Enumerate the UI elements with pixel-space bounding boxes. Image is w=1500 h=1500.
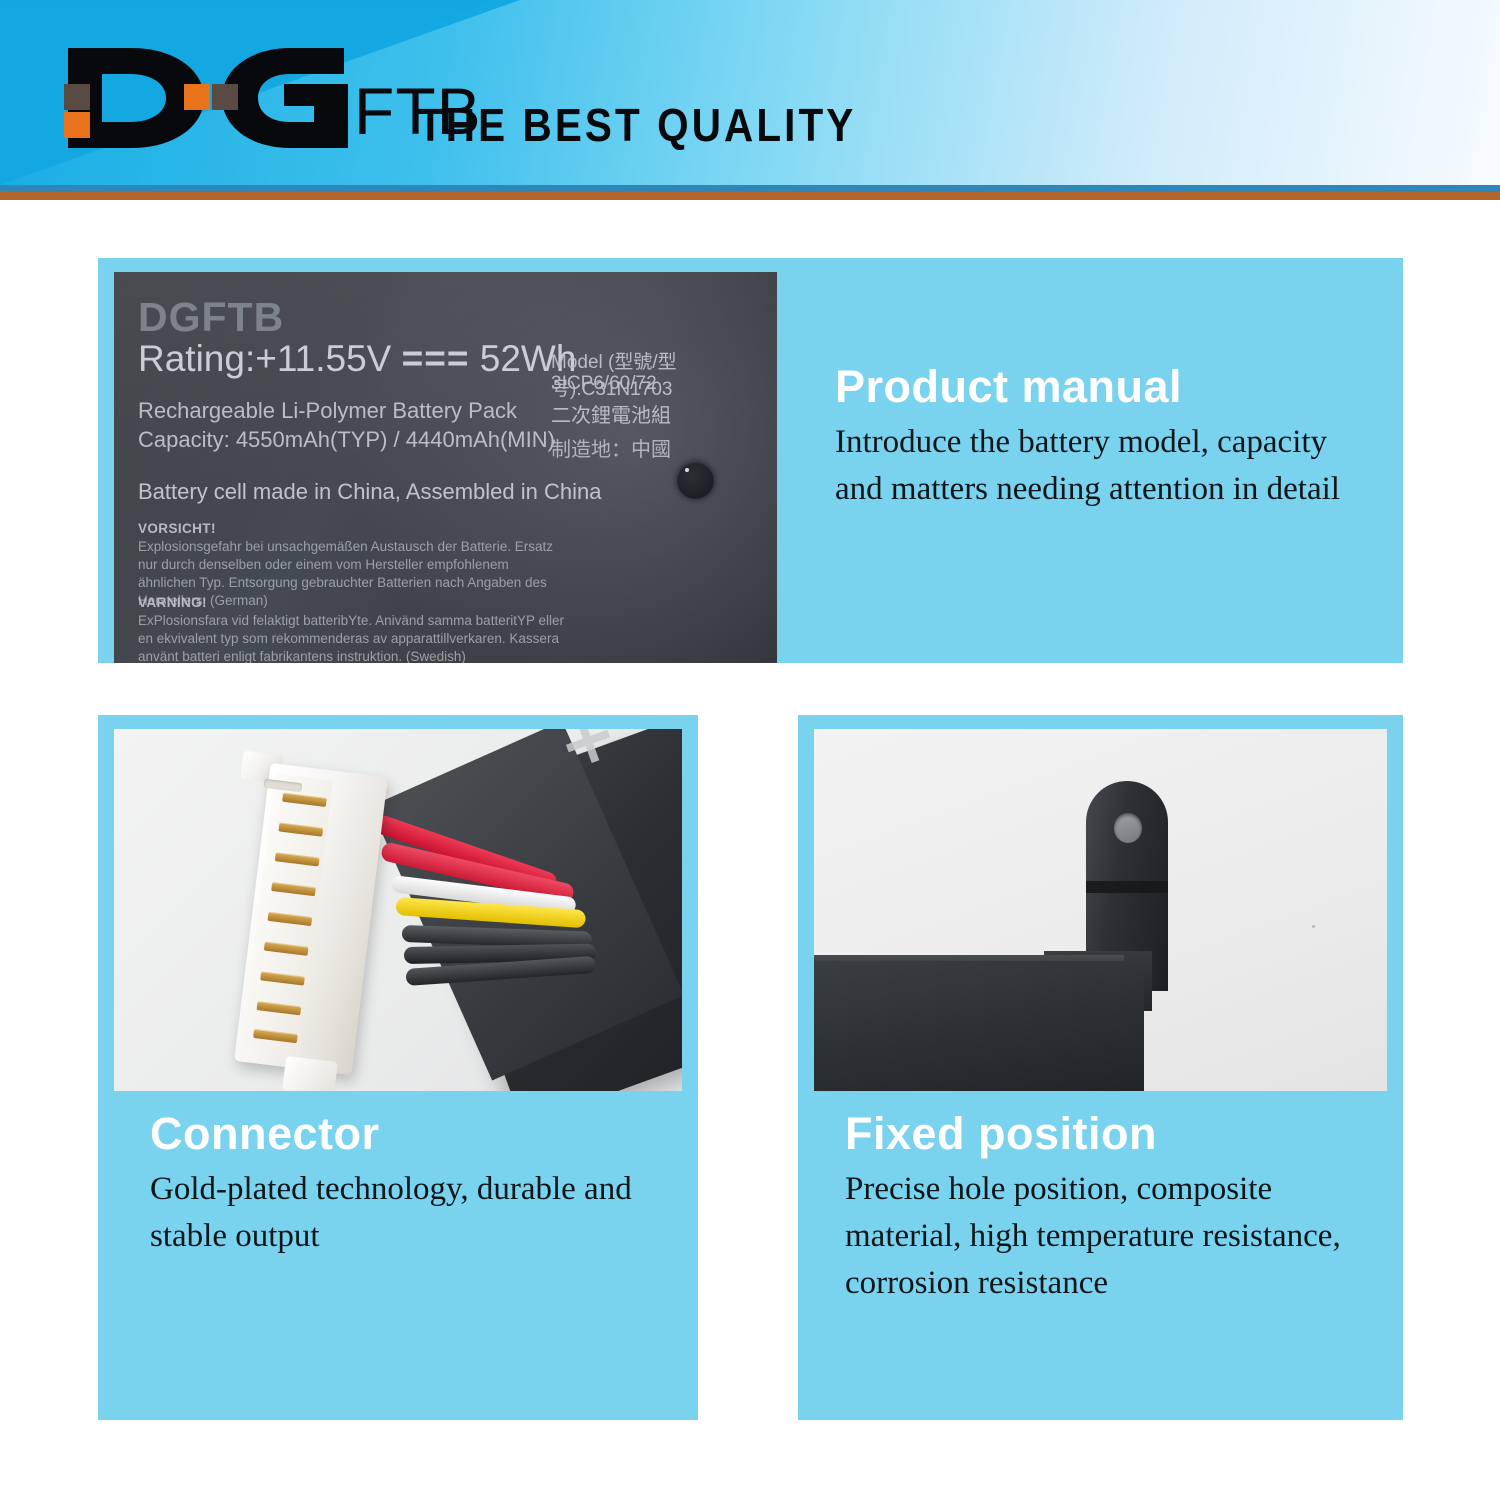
warning-heading-german: VORSICHT! [138,521,216,536]
gold-pin [267,912,312,926]
text-block-fixed-position: Fixed position Precise hole position, co… [845,1110,1385,1307]
label-brand-text: DGFTB [138,294,284,341]
infographic-page: FTB THE BEST QUALITY DGFTB Rating:+11.55… [0,0,1500,1500]
gold-pin [278,822,323,836]
backdrop-speck [1312,925,1315,928]
label-rating-text: Rating:+11.55V [138,338,391,379]
header-tagline: THE BEST QUALITY [418,98,856,152]
header-rule-orange [0,192,1500,200]
gold-pin [282,793,327,807]
title-fixed-position: Fixed position [845,1110,1385,1157]
card-fixed-position [798,715,1403,1420]
label-capacity-text: Capacity: 4550mAh(TYP) / 4440mAh(MIN) [138,427,555,453]
battery-body-edge [814,961,1144,1091]
mounting-tab-seam [1086,881,1168,893]
connector-latch-bottom [282,1056,338,1091]
label-warning-norwegian: ADVARSELI! Lathe schultal Elmalan inafae… [138,662,568,663]
label-chinese-line-2: 制造地：中國 [551,433,671,462]
title-connector: Connector [150,1110,670,1157]
gold-pin [253,1029,298,1043]
label-chinese-line-1: 二次鋰電池組 [551,399,671,428]
mounting-tab-photo [814,729,1387,1091]
title-product-manual: Product manual [835,363,1355,410]
header-rule-blue [0,185,1500,192]
body-product-manual: Introduce the battery model, capacity an… [835,419,1355,513]
connector-photo [114,729,682,1091]
body-connector: Gold-plated technology, durable and stab… [150,1166,670,1260]
label-chemistry-text: Rechargeable Li-Polymer Battery Pack [138,398,517,424]
gold-pin [271,882,316,896]
warning-text-swedish: ExPlosionsfara vid felaktigt batteribYte… [138,613,564,663]
page-header: FTB THE BEST QUALITY [0,0,1500,185]
gold-pin [275,852,320,866]
dg-monogram-icon [62,44,362,152]
label-warning-swedish: VARNING! ExPlosionsfara vid felaktigt ba… [138,594,568,663]
mounting-hole-icon [1114,813,1142,843]
label-icp-code-text: 3ICP6/60/72 [551,373,657,395]
body-fixed-position: Precise hole position, composite materia… [845,1166,1385,1307]
gold-pin [260,971,305,985]
label-dc-symbol: === [402,338,470,379]
card-connector [98,715,698,1420]
label-rating-line: Rating:+11.55V === 52Wh [138,338,576,380]
gold-pin [256,1001,301,1015]
gold-pin [264,942,309,956]
battery-label-photo: DGFTB Rating:+11.55V === 52Wh Rechargeab… [114,272,777,663]
warning-heading-swedish: VARNING! [138,595,207,610]
text-block-connector: Connector Gold-plated technology, durabl… [150,1110,670,1260]
label-rivet-hole-icon [677,462,714,499]
label-origin-text: Battery cell made in China, Assembled in… [138,479,601,505]
text-block-product-manual: Product manual Introduce the battery mod… [835,363,1355,513]
